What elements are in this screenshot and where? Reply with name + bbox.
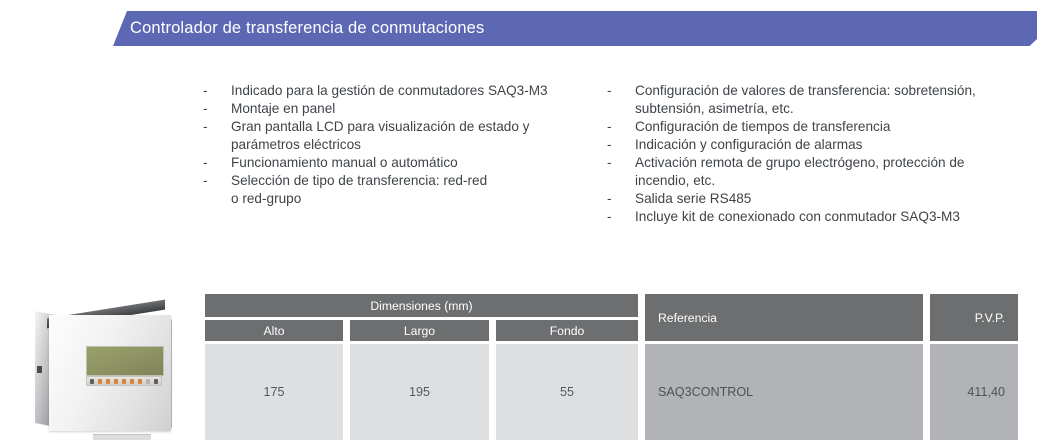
- feature-item-line: subtensión, asimetría, etc.: [635, 100, 1027, 118]
- feature-item-line: Activación remota de grupo electrógeno, …: [635, 154, 1027, 172]
- feature-item: -Configuración de tiempos de transferenc…: [607, 118, 1027, 136]
- feature-item: -Montaje en panel: [203, 100, 598, 118]
- feature-item: -Indicación y configuración de alarmas: [607, 136, 1027, 154]
- bullet-dash-icon: -: [203, 82, 208, 100]
- feature-item: -Salida serie RS485: [607, 190, 1027, 208]
- table-cell-referencia: SAQ3CONTROL: [645, 344, 923, 440]
- bullet-dash-icon: -: [203, 172, 208, 190]
- table-header-largo: Largo: [350, 320, 489, 341]
- bullet-dash-icon: -: [607, 208, 612, 226]
- table-cell-fondo: 55: [496, 344, 638, 440]
- feature-item-line: Salida serie RS485: [635, 190, 1027, 208]
- feature-item: -Funcionamiento manual o automático: [203, 154, 598, 172]
- feature-list-left: -Indicado para la gestión de conmutadore…: [203, 82, 598, 208]
- table-group-header-dimensiones: Dimensiones (mm): [205, 294, 638, 317]
- bullet-dash-icon: -: [607, 136, 612, 154]
- bullet-dash-icon: -: [203, 118, 208, 136]
- feature-item-line: parámetros eléctricos: [231, 136, 598, 154]
- feature-item-line: Gran pantalla LCD para visualización de …: [231, 118, 598, 136]
- feature-item-line: Incluye kit de conexionado con conmutado…: [635, 208, 1027, 226]
- bullet-dash-icon: -: [607, 82, 612, 100]
- page-title: Controlador de transferencia de conmutac…: [130, 11, 484, 46]
- feature-item-line: Configuración de valores de transferenci…: [635, 82, 1027, 100]
- feature-item: -Selección de tipo de transferencia: red…: [203, 172, 598, 208]
- feature-item-line: Configuración de tiempos de transferenci…: [635, 118, 1027, 136]
- table-header-alto: Alto: [205, 320, 343, 341]
- feature-item: -Incluye kit de conexionado con conmutad…: [607, 208, 1027, 226]
- feature-item-line: Indicado para la gestión de conmutadores…: [231, 82, 598, 100]
- product-photo: [33, 303, 193, 438]
- feature-item: -Configuración de valores de transferenc…: [607, 82, 1027, 118]
- table-cell-largo: 195: [350, 344, 489, 440]
- table-header-fondo: Fondo: [496, 320, 638, 341]
- bullet-dash-icon: -: [203, 100, 208, 118]
- bullet-dash-icon: -: [607, 190, 612, 208]
- feature-item-line: incendio, etc.: [635, 172, 1027, 190]
- feature-item-line: Funcionamiento manual o automático: [231, 154, 598, 172]
- table-cell-alto: 175: [205, 344, 343, 440]
- table-header-referencia: Referencia: [645, 294, 923, 341]
- lcd-display-icon: [86, 346, 164, 376]
- feature-item-line: Indicación y configuración de alarmas: [635, 136, 1027, 154]
- feature-item-line: o red-grupo: [231, 190, 598, 208]
- table-header-pvp: P.V.P.: [930, 294, 1018, 341]
- feature-item: -Indicado para la gestión de conmutadore…: [203, 82, 598, 100]
- bullet-dash-icon: -: [607, 154, 612, 172]
- feature-item-line: Selección de tipo de transferencia: red-…: [231, 172, 598, 190]
- table-cell-pvp: 411,40: [930, 344, 1018, 440]
- feature-item-line: Montaje en panel: [231, 100, 598, 118]
- product-bottom-tab: [93, 434, 151, 440]
- spec-table: Dimensiones (mm) Alto Largo Fondo Refere…: [205, 294, 1018, 444]
- page-header-banner: Controlador de transferencia de conmutac…: [0, 11, 1037, 46]
- feature-item: -Activación remota de grupo electrógeno,…: [607, 154, 1027, 190]
- bullet-dash-icon: -: [203, 154, 208, 172]
- product-front-face: [49, 315, 171, 431]
- feature-item: -Gran pantalla LCD para visualización de…: [203, 118, 598, 154]
- bullet-dash-icon: -: [607, 118, 612, 136]
- feature-list-right: -Configuración de valores de transferenc…: [607, 82, 1027, 226]
- product-side-knob: [37, 366, 42, 373]
- product-keypad: [86, 376, 162, 386]
